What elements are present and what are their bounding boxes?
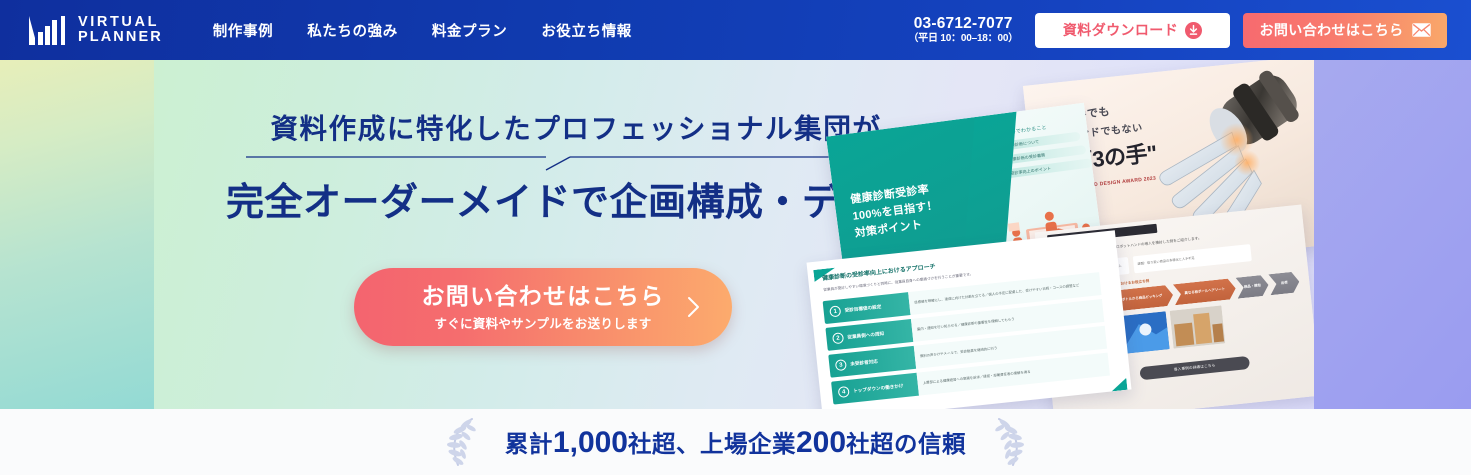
headline-divider-decoration (246, 153, 906, 171)
download-circle-icon (1185, 22, 1202, 39)
nav-item-strengths[interactable]: 私たちの強み (290, 20, 415, 41)
trust-statement: 累計1,000社超、上場企業200社超の信頼 (505, 425, 966, 460)
contact-button[interactable]: お問い合わせはこちら (1243, 13, 1447, 48)
trust-suffix: 社超の信頼 (846, 431, 966, 457)
laurel-right-icon (988, 416, 1030, 468)
phone-block: 03-6712-7077 （平日 10：00–18：00） (908, 15, 1018, 45)
doc-approach-steps-slide: 健康診断の受診率向上におけるアプローチ 従業員が受診しやすい環境づくりと同時に、… (806, 230, 1131, 409)
header-actions: 03-6712-7077 （平日 10：00–18：00） 資料ダウンロード お… (908, 13, 1447, 48)
nav-item-resources[interactable]: お役立ち情報 (524, 20, 649, 41)
trust-bar: 累計1,000社超、上場企業200社超の信頼 (0, 409, 1471, 475)
hero-section: 資料作成に特化したプロフェッショナル集団が 完全オーダーメイドで企画構成・デザイ… (0, 60, 1471, 409)
doc-d-card-2: 課題：取り扱い商品の多様化と人手不足 (1133, 244, 1252, 273)
bar-chart-logo-icon (27, 14, 67, 47)
hero-document-mockups: 人の手でも トハンドでもない "第3の手" GOOD DESIGN AWARD … (814, 70, 1314, 409)
main-nav: 制作事例 私たちの強み 料金プラン お役立ち情報 (196, 20, 649, 41)
trust-prefix: 累計 (505, 431, 553, 457)
download-button-label: 資料ダウンロード (1063, 20, 1178, 40)
nav-item-pricing[interactable]: 料金プラン (415, 20, 525, 41)
boxes-photo-3 (1170, 305, 1226, 348)
download-button[interactable]: 資料ダウンロード (1035, 13, 1230, 48)
mail-icon (1412, 23, 1431, 37)
hero-panel: 資料作成に特化したプロフェッショナル集団が 完全オーダーメイドで企画構成・デザイ… (154, 60, 1314, 409)
trust-mid: 社超、上場企業 (628, 431, 796, 457)
laurel-left-icon (441, 416, 483, 468)
nav-item-works[interactable]: 制作事例 (196, 20, 290, 41)
logo-wordmark: VIRTUAL PLANNER (78, 15, 163, 46)
hero-cta-button[interactable]: お問い合わせはこちら すぐに資料やサンプルをお送りします (354, 268, 732, 346)
hero-cta-label: お問い合わせはこちら (422, 282, 665, 310)
landing-page: VIRTUAL PLANNER 制作事例 私たちの強み 料金プラン お役立ち情報… (0, 0, 1471, 475)
phone-hours: （平日 10：00–18：00） (908, 32, 1018, 45)
hero-left-gradient-strip (0, 60, 154, 409)
phone-number: 03-6712-7077 (908, 15, 1018, 32)
site-logo[interactable]: VIRTUAL PLANNER (27, 14, 163, 47)
logo-line-2: PLANNER (78, 30, 163, 46)
doc-d-step-3: 異なる段ボールへアソート (1173, 278, 1237, 305)
doc-d-step-5: 出荷 (1268, 271, 1300, 295)
doc-d-step-4: 検品・梱包 (1236, 274, 1270, 298)
trust-number-1: 1,000 (553, 426, 628, 459)
contact-button-label: お問い合わせはこちら (1260, 20, 1404, 40)
logo-line-1: VIRTUAL (78, 15, 163, 31)
chevron-right-icon (687, 296, 701, 318)
trust-number-2: 200 (796, 426, 846, 459)
doc-c-corner-accent-2 (1110, 378, 1127, 392)
hero-cta-sublabel: すぐに資料やサンプルをお送りします (434, 313, 651, 332)
site-header: VIRTUAL PLANNER 制作事例 私たちの強み 料金プラン お役立ち情報… (0, 0, 1471, 60)
doc-d-cta-button: 導入事例の詳細はこちら (1139, 356, 1250, 380)
